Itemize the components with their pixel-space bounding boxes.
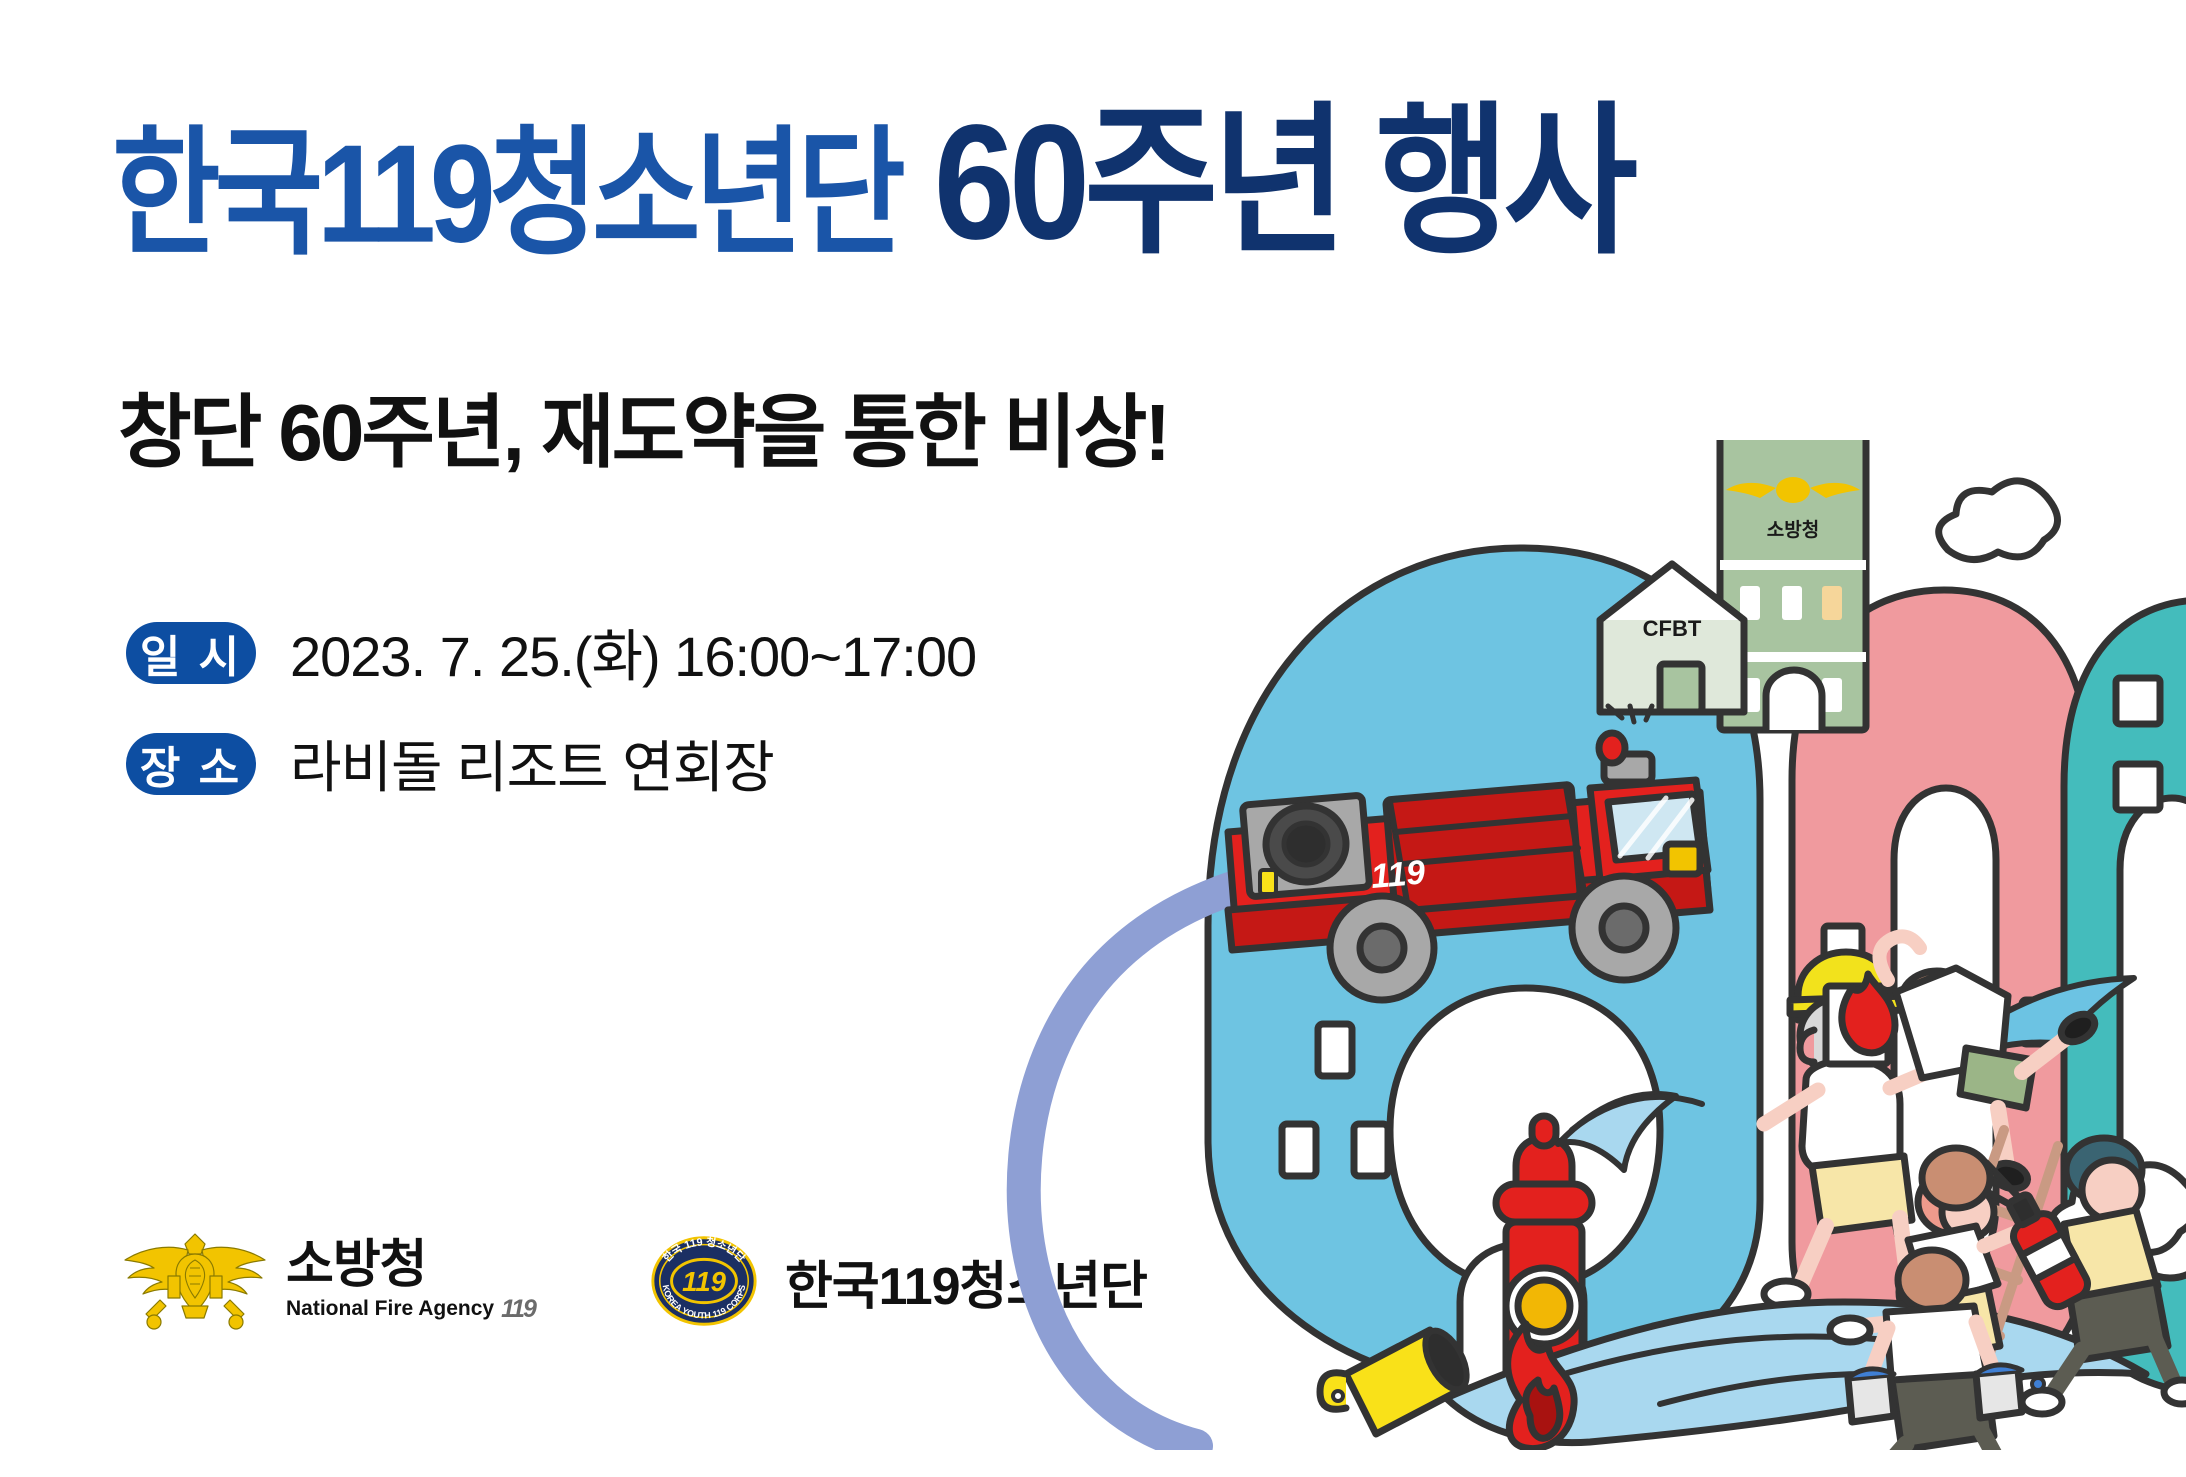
nfa-name-en: National Fire Agency xyxy=(286,1297,494,1321)
info-row-datetime: 일 시 2023. 7. 25.(화) 16:00~17:00 xyxy=(126,612,976,693)
info-value-datetime: 2023. 7. 25.(화) 16:00~17:00 xyxy=(290,612,976,693)
info-value-location: 라비돌 리조트 연회장 xyxy=(290,723,774,804)
nfa-wordmark: 소방청 National Fire Agency 119 xyxy=(286,1238,535,1324)
page-title: 한국119청소년단 60주년 행사 xyxy=(112,118,1632,264)
illustration-60-firefighting-scene: 소방청 CFBT xyxy=(960,440,2186,1450)
info-row-location: 장 소 라비돌 리조트 연회장 xyxy=(126,723,976,804)
fire-truck-119-label: 119 xyxy=(1369,853,1426,896)
logo-national-fire-agency: 소방청 National Fire Agency 119 xyxy=(120,1228,535,1334)
flame-small-on-window xyxy=(1826,974,1895,1064)
fire-station-label: 소방청 xyxy=(1767,519,1819,541)
korea-youth-119-corps-oval-emblem: 한국 119 청소년단 KOREA YOUTH 119 CORPS 119 xyxy=(645,1222,763,1340)
headline-event-name: 60주년 행사 xyxy=(934,100,1632,264)
nfa-name-kr: 소방청 xyxy=(286,1238,535,1293)
cloud-medium xyxy=(1939,481,2058,560)
headline-org-name: 한국119청소년단 xyxy=(112,125,900,264)
cfbt-label: CFBT xyxy=(1643,616,1702,641)
nfa-119-mark: 119 xyxy=(501,1295,535,1324)
svg-text:119: 119 xyxy=(682,1266,727,1297)
event-info-block: 일 시 2023. 7. 25.(화) 16:00~17:00 장 소 라비돌 … xyxy=(126,612,976,834)
poster-root: 한국119청소년단 60주년 행사 창단 60주년, 재도약을 통한 비상! 일… xyxy=(0,0,2186,1477)
badge-location: 장 소 xyxy=(126,733,256,795)
national-fire-agency-eagle-emblem xyxy=(120,1228,270,1334)
badge-datetime: 일 시 xyxy=(126,622,256,684)
